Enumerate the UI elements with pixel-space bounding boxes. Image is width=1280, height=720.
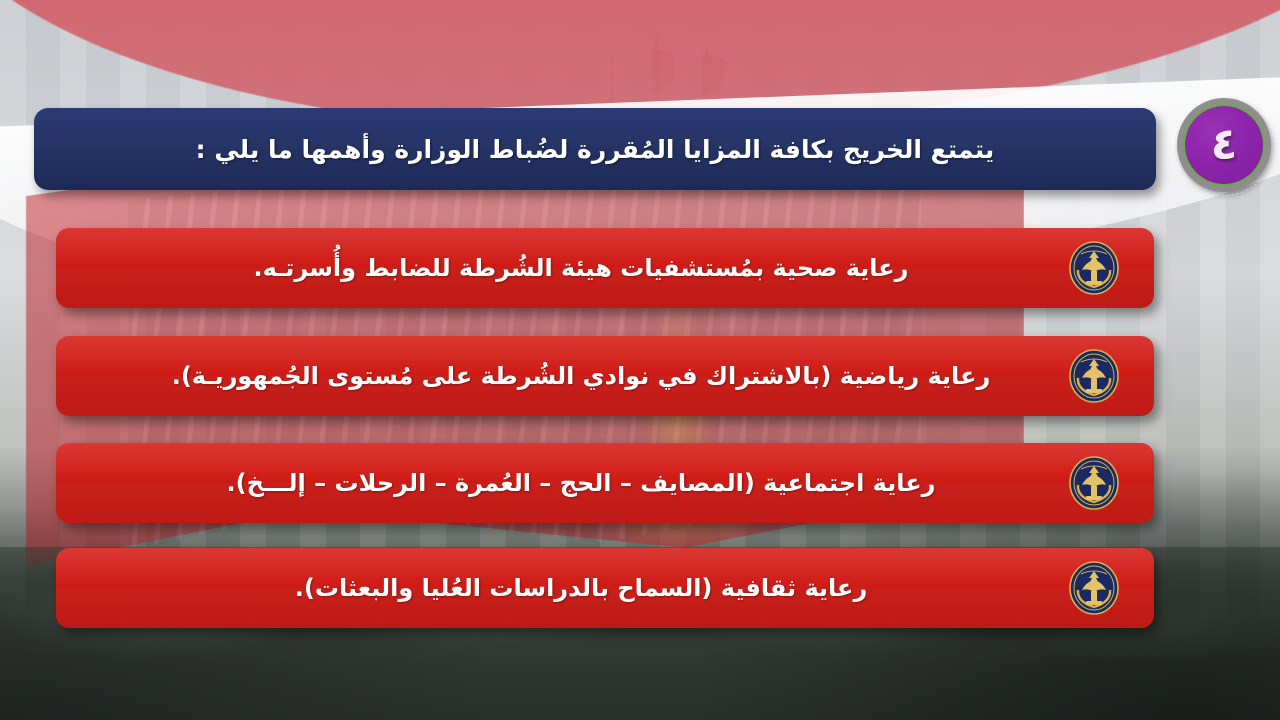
slide-number-badge[interactable]: ٤ bbox=[1175, 96, 1273, 194]
egypt-police-emblem-icon bbox=[1068, 240, 1120, 296]
slide-title: يتمتع الخريج بكافة المزايا المُقررة لضُب… bbox=[196, 135, 995, 164]
benefit-item-1[interactable]: رعاية صحية بمُستشفيات هيئة الشُرطة للضاب… bbox=[56, 228, 1154, 308]
benefit-item-2-label: رعاية رياضية (بالاشتراك في نوادي الشُرطة… bbox=[56, 362, 1154, 390]
badge-number-text: ٤ bbox=[1211, 123, 1238, 167]
egypt-police-emblem-icon bbox=[1068, 348, 1120, 404]
benefit-item-4-label: رعاية ثقافية (السماح بالدراسات العُليا و… bbox=[56, 574, 1154, 602]
slide-header-bar: يتمتع الخريج بكافة المزايا المُقررة لضُب… bbox=[34, 108, 1156, 190]
benefit-item-1-label: رعاية صحية بمُستشفيات هيئة الشُرطة للضاب… bbox=[56, 254, 1154, 282]
benefit-item-3-label: رعاية اجتماعية (المصايف – الحج – العُمرة… bbox=[56, 469, 1154, 497]
egypt-police-emblem-icon bbox=[1068, 455, 1120, 511]
benefit-item-3[interactable]: رعاية اجتماعية (المصايف – الحج – العُمرة… bbox=[56, 443, 1154, 523]
benefit-item-4[interactable]: رعاية ثقافية (السماح بالدراسات العُليا و… bbox=[56, 548, 1154, 628]
slide-content: يتمتع الخريج بكافة المزايا المُقررة لضُب… bbox=[0, 0, 1280, 720]
benefit-item-2[interactable]: رعاية رياضية (بالاشتراك في نوادي الشُرطة… bbox=[56, 336, 1154, 416]
egypt-police-emblem-icon bbox=[1068, 560, 1120, 616]
